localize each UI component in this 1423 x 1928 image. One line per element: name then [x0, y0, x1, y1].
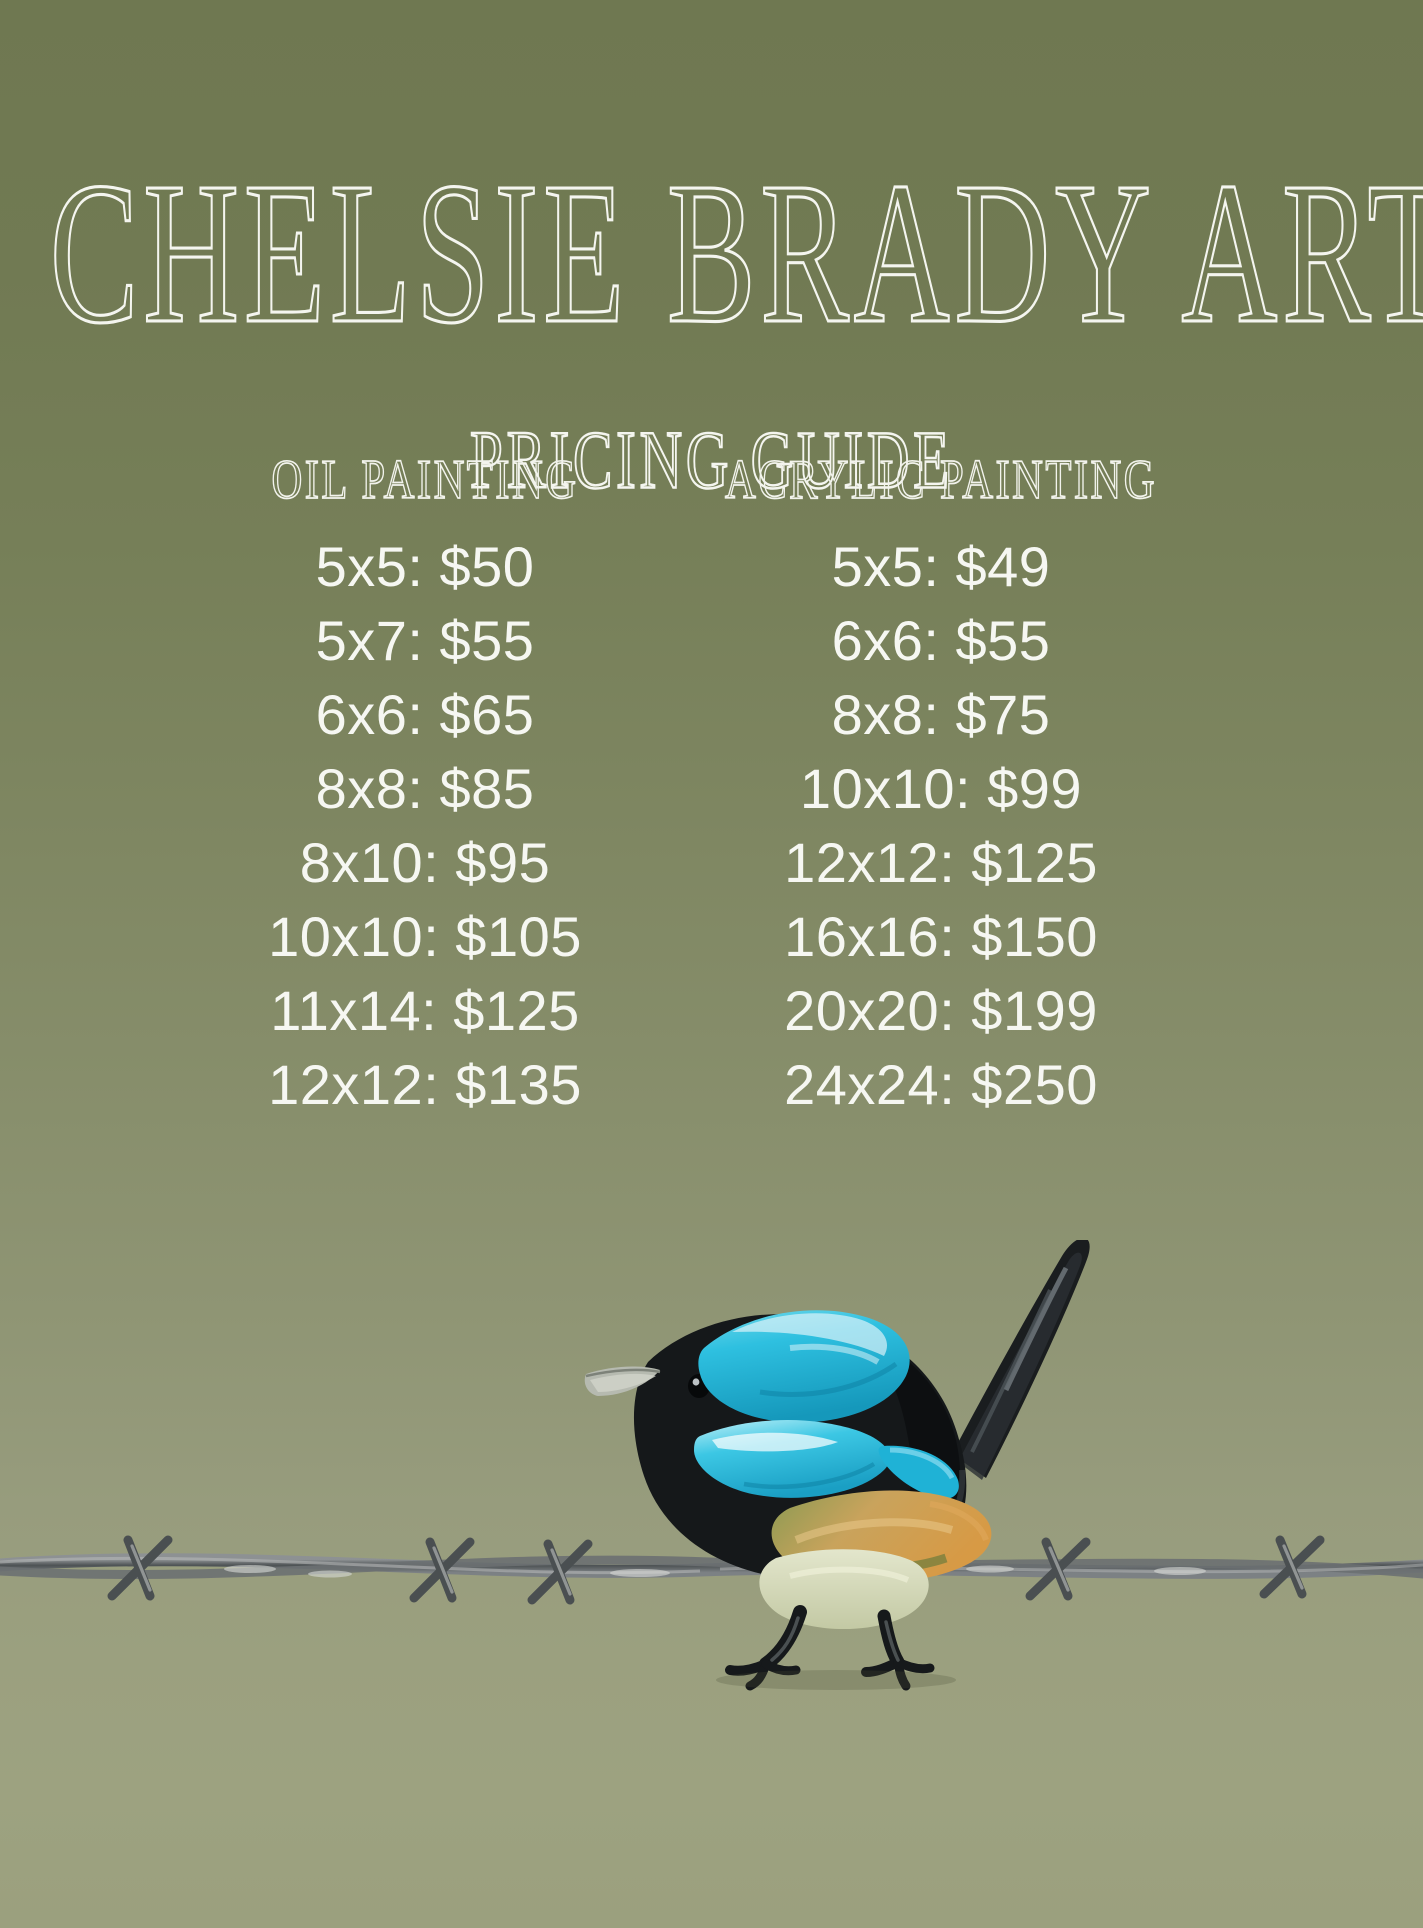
price-list-acrylic: 5x5: $49 6x6: $55 8x8: $75 10x10: $99 12… [706, 530, 1176, 1122]
page-title: CHELSIE BRADY ART [50, 152, 1373, 355]
poster-header: CHELSIE BRADY ART PRICING GUIDE [0, 152, 1423, 481]
price-row: 24x24: $250 [706, 1048, 1176, 1122]
pricing-table: OIL PAINTING 5x5: $50 5x7: $55 6x6: $65 … [178, 452, 1188, 1122]
bird-leg-highlights [772, 1618, 898, 1660]
price-row: 12x12: $135 [190, 1048, 660, 1122]
bird-flank [772, 1491, 992, 1583]
price-row: 6x6: $65 [190, 678, 660, 752]
price-column-acrylic: ACRYLIC PAINTING 5x5: $49 6x6: $55 8x8: … [706, 452, 1176, 1122]
bird-shoulder-streak [879, 1446, 959, 1499]
price-row: 10x10: $105 [190, 900, 660, 974]
column-header-oil-painting: OIL PAINTING [197, 452, 653, 508]
pricing-guide-poster: CHELSIE BRADY ART PRICING GUIDE OIL PAIN… [0, 0, 1423, 1928]
price-row: 10x10: $99 [706, 752, 1176, 826]
price-row: 8x8: $75 [706, 678, 1176, 752]
price-column-oil: OIL PAINTING 5x5: $50 5x7: $55 6x6: $65 … [190, 452, 660, 1122]
price-row: 12x12: $125 [706, 826, 1176, 900]
bird-cheek-patch [694, 1420, 890, 1498]
price-row: 5x5: $50 [190, 530, 660, 604]
bird-legs [730, 1612, 930, 1686]
price-row: 6x6: $55 [706, 604, 1176, 678]
price-list-oil: 5x5: $50 5x7: $55 6x6: $65 8x8: $85 8x10… [190, 530, 660, 1122]
bird-crown [698, 1310, 909, 1422]
bird-belly [759, 1549, 928, 1629]
bird-beak [585, 1367, 660, 1396]
price-row: 8x8: $85 [190, 752, 660, 826]
price-row: 20x20: $199 [706, 974, 1176, 1048]
barbed-wire-icon [0, 1540, 1423, 1600]
column-header-acrylic-painting: ACRYLIC PAINTING [713, 452, 1169, 508]
artwork-illustration [0, 1240, 1423, 1928]
price-row: 16x16: $150 [706, 900, 1176, 974]
bird-shadow [716, 1670, 956, 1690]
price-row: 11x14: $125 [190, 974, 660, 1048]
bird-eye [688, 1374, 710, 1398]
bird-tail [952, 1240, 1090, 1480]
price-row: 5x7: $55 [190, 604, 660, 678]
price-row: 5x5: $49 [706, 530, 1176, 604]
price-row: 8x10: $95 [190, 826, 660, 900]
bird-body [634, 1314, 966, 1582]
